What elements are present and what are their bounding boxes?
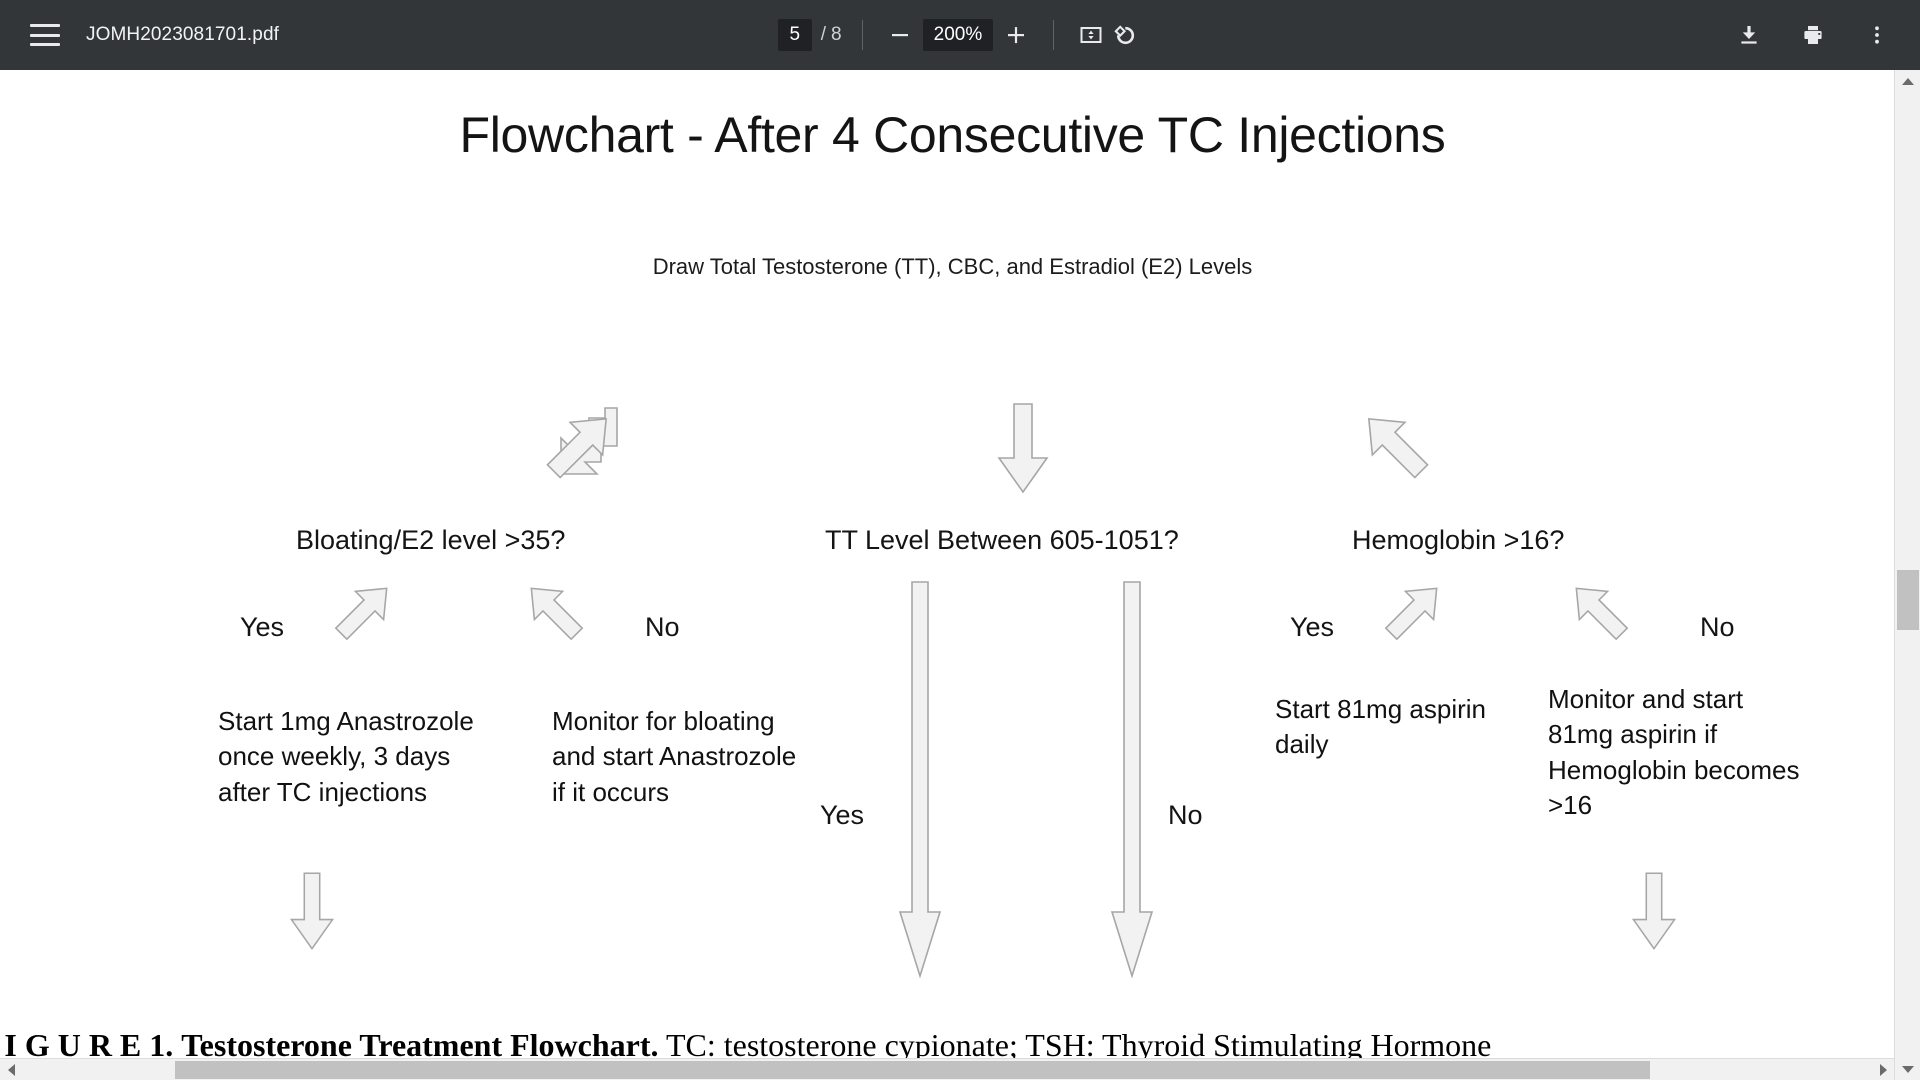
horizontal-scrollbar-thumb[interactable] bbox=[175, 1061, 1650, 1079]
hamburger-bar bbox=[30, 34, 60, 37]
arrow-to-branch-2 bbox=[995, 402, 1051, 494]
more-options-button[interactable] bbox=[1860, 18, 1894, 52]
hamburger-bar bbox=[30, 24, 60, 27]
minus-icon bbox=[889, 24, 911, 46]
scroll-right-arrow-icon[interactable] bbox=[1872, 1059, 1894, 1081]
rotate-counterclockwise-icon bbox=[1113, 23, 1137, 47]
scroll-left-arrow-icon[interactable] bbox=[0, 1059, 22, 1081]
scroll-down-arrow-icon[interactable] bbox=[1895, 1058, 1920, 1080]
arrow-branch-3-no bbox=[1560, 572, 1638, 650]
branch-2-yes-label: Yes bbox=[820, 800, 864, 831]
branch-1-yes-text: Start 1mg Anastrozole once weekly, 3 day… bbox=[218, 704, 488, 810]
horizontal-scrollbar[interactable] bbox=[0, 1058, 1894, 1080]
scroll-up-arrow-icon[interactable] bbox=[1895, 70, 1920, 92]
toolbar-right-group bbox=[1732, 18, 1894, 52]
hamburger-bar bbox=[30, 43, 60, 46]
vertical-scrollbar-thumb[interactable] bbox=[1897, 570, 1919, 630]
branch-1-no-label: No bbox=[645, 612, 680, 643]
toolbar-divider bbox=[1053, 20, 1054, 50]
arrow-to-branch-1 bbox=[535, 400, 625, 490]
download-button[interactable] bbox=[1732, 18, 1766, 52]
branch-1-no-text: Monitor for bloating and start Anastrozo… bbox=[552, 704, 807, 810]
branch-2-no-label: No bbox=[1168, 800, 1203, 831]
print-icon bbox=[1801, 23, 1825, 47]
arrow-branch-1-yes bbox=[325, 572, 403, 650]
arrow-branch-3-terminal bbox=[1630, 870, 1678, 952]
flowchart-title: Flowchart - After 4 Consecutive TC Injec… bbox=[0, 106, 1905, 164]
page-total-count: 8 bbox=[831, 24, 842, 46]
arrow-branch-2-no bbox=[1110, 580, 1154, 980]
toolbar-center-group: / 8 200% bbox=[750, 18, 1170, 52]
page-number-input[interactable] bbox=[778, 19, 812, 51]
branch-3-no-text: Monitor and start 81mg aspirin if Hemogl… bbox=[1548, 682, 1806, 823]
plus-icon bbox=[1005, 24, 1027, 46]
pdf-page-viewport[interactable]: Flowchart - After 4 Consecutive TC Injec… bbox=[0, 70, 1920, 1080]
vertical-scrollbar[interactable] bbox=[1894, 70, 1920, 1080]
branch-3-no-label: No bbox=[1700, 612, 1735, 643]
pdf-viewer-toolbar: JOMH2023081701.pdf / 8 200% bbox=[0, 0, 1920, 70]
zoom-level-value[interactable]: 200% bbox=[923, 19, 994, 51]
arrow-to-branch-3 bbox=[1350, 400, 1440, 490]
flowchart-subtitle: Draw Total Testosterone (TT), CBC, and E… bbox=[0, 254, 1905, 280]
branch-1-question: Bloating/E2 level >35? bbox=[296, 525, 565, 556]
rotate-counterclockwise-button[interactable] bbox=[1108, 18, 1142, 52]
pdf-page-5: Flowchart - After 4 Consecutive TC Injec… bbox=[0, 70, 1905, 1055]
zoom-in-button[interactable] bbox=[999, 18, 1033, 52]
branch-3-yes-text: Start 81mg aspirin daily bbox=[1275, 692, 1525, 763]
toolbar-left-group: JOMH2023081701.pdf bbox=[0, 24, 279, 46]
toolbar-divider bbox=[862, 20, 863, 50]
print-button[interactable] bbox=[1796, 18, 1830, 52]
fit-to-page-icon bbox=[1079, 23, 1103, 47]
document-title: JOMH2023081701.pdf bbox=[86, 24, 279, 46]
more-options-icon bbox=[1865, 23, 1889, 47]
branch-1-yes-label: Yes bbox=[240, 612, 284, 643]
zoom-out-button[interactable] bbox=[883, 18, 917, 52]
arrow-branch-2-yes bbox=[898, 580, 942, 980]
hamburger-menu-icon[interactable] bbox=[30, 24, 60, 46]
arrow-branch-1-terminal bbox=[288, 870, 336, 952]
branch-2-question: TT Level Between 605-1051? bbox=[825, 525, 1179, 556]
arrow-branch-1-no bbox=[515, 572, 593, 650]
fit-to-page-button[interactable] bbox=[1074, 18, 1108, 52]
branch-3-yes-label: Yes bbox=[1290, 612, 1334, 643]
arrow-branch-3-yes bbox=[1375, 572, 1453, 650]
branch-3-question: Hemoglobin >16? bbox=[1352, 525, 1564, 556]
page-separator: / bbox=[821, 24, 826, 46]
download-icon bbox=[1737, 23, 1761, 47]
